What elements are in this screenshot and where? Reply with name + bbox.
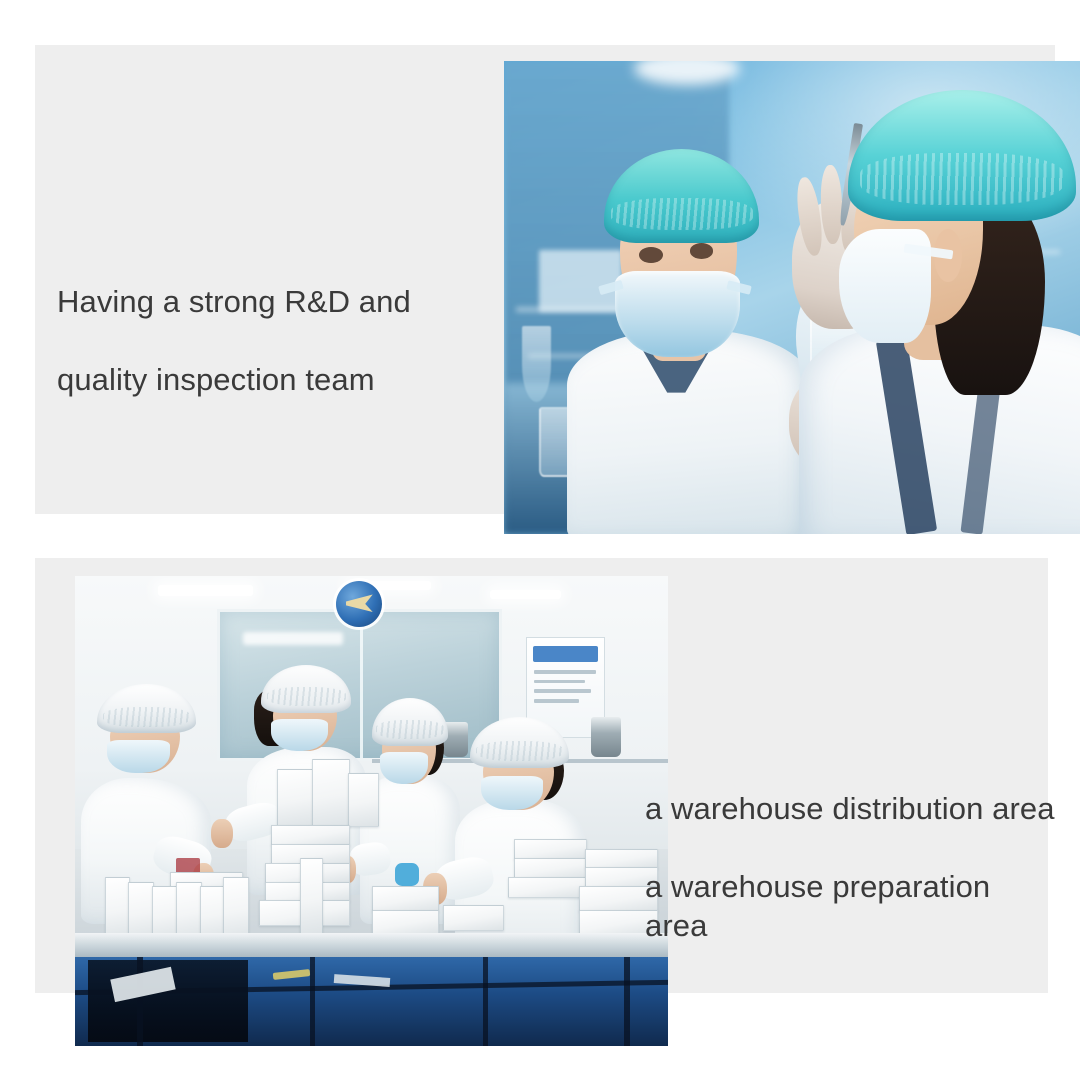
stainless-container: [591, 717, 621, 757]
white-hairnet: [470, 717, 569, 768]
poster-text-line: [534, 699, 579, 703]
product-carton: [300, 858, 323, 935]
table-leg: [624, 957, 630, 1046]
tape-roll: [273, 969, 311, 980]
poster-text-line: [534, 670, 596, 674]
product-carton: [271, 825, 350, 846]
face-mask: [271, 719, 328, 751]
poster-text-line: [534, 689, 591, 693]
product-carton: [372, 910, 439, 936]
worker-hand: [211, 819, 232, 848]
product-carton: [128, 882, 154, 940]
white-hairnet: [97, 684, 196, 733]
white-hairnet: [372, 698, 449, 745]
product-carton: [372, 886, 439, 912]
product-carton: [105, 877, 131, 940]
window-light-reflection: [243, 632, 343, 645]
table-leg: [483, 957, 488, 1046]
product-carton: [443, 905, 504, 931]
caption-line: a warehouse preparation area: [645, 867, 1055, 945]
cleanroom-packaging-scene-illustration: [75, 576, 668, 1046]
caption-line: a warehouse distribution area: [645, 789, 1055, 828]
work-table-base: [75, 957, 668, 1046]
ceiling-light: [490, 590, 561, 598]
cleanroom-packaging-photo: [75, 576, 668, 1046]
table-leg: [137, 957, 143, 1046]
product-carton: [514, 858, 587, 879]
ceiling-light: [158, 585, 253, 595]
product-carton: [277, 769, 315, 827]
product-carton: [514, 839, 587, 860]
showcase-page: Having a strong R&D and quality inspecti…: [0, 0, 1080, 1080]
product-carton: [312, 759, 350, 827]
blue-glove: [395, 863, 419, 887]
table-leg: [310, 957, 315, 1046]
product-carton: [152, 886, 178, 940]
feature-block-warehouse-areas: a warehouse distribution area a warehous…: [0, 0, 1080, 1080]
product-carton: [348, 773, 380, 827]
company-logo-badge: [336, 581, 382, 627]
product-carton: [508, 877, 587, 898]
product-carton: [223, 877, 249, 940]
product-carton: [200, 886, 226, 940]
caption-warehouse-areas: a warehouse distribution area a warehous…: [645, 750, 1055, 984]
poster-text-line: [534, 680, 585, 684]
white-hairnet: [261, 665, 351, 712]
poster-header: [533, 646, 598, 662]
product-carton: [176, 882, 202, 940]
